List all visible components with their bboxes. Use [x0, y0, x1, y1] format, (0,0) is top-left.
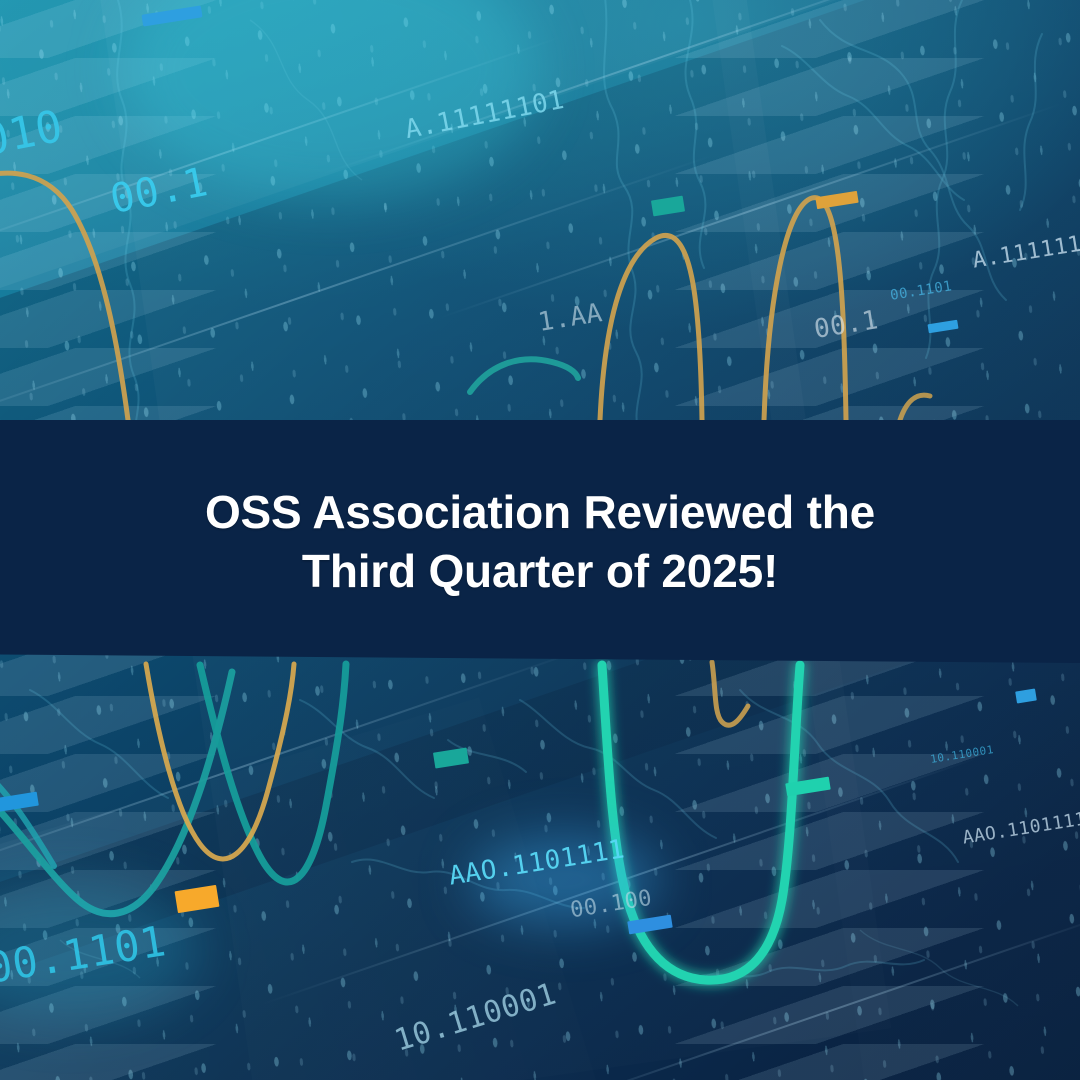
binary-label: 00.1101 — [0, 916, 169, 993]
chip-teal-upper — [651, 196, 685, 217]
chip-cyan-top — [141, 5, 202, 26]
binary-label: AAO.1101111 — [447, 834, 627, 891]
binary-label: 00.1101 — [889, 278, 953, 304]
rule-line — [260, 756, 979, 1005]
cyan-curve-left — [0, 760, 54, 866]
rule-line — [0, 36, 561, 266]
binary-label: 00.1 — [107, 159, 212, 223]
rule-line — [438, 103, 1063, 320]
title-banner: OSS Association Reviewed the Third Quart… — [0, 420, 1080, 663]
binary-label: 1.AA — [536, 298, 605, 338]
gold-curve-mid — [600, 235, 702, 420]
binary-label: 00.1 — [812, 305, 881, 345]
panel-bottom-left — [0, 698, 602, 1080]
chip-teal-lower — [433, 747, 469, 768]
rule-line — [0, 646, 590, 895]
binary-label: A.11111101 — [971, 227, 1080, 273]
teal-curve-far-left — [0, 672, 232, 914]
gold-curve-right — [764, 198, 846, 420]
chip-amber-upper — [815, 191, 858, 209]
binary-label: 010 — [0, 101, 67, 167]
binary-label: A.11111101 — [403, 85, 567, 145]
chip-cyan-edge — [1015, 689, 1037, 704]
gold-curve-edge — [900, 395, 930, 420]
glow-top-left — [120, 0, 540, 200]
chip-cyan-left — [0, 792, 39, 813]
binary-label: 00.100 — [569, 886, 654, 924]
title-line-2: Third Quarter of 2025! — [302, 542, 778, 601]
glow-label — [470, 835, 660, 925]
rule-line — [319, 0, 982, 176]
gold-curve-lower — [146, 664, 294, 859]
teal-curve-arc — [470, 359, 578, 392]
rule-line — [0, 154, 716, 449]
binary-label: 10.110001 — [929, 743, 994, 766]
chip-orange-lower — [175, 885, 220, 913]
chip-blue-marker — [627, 915, 672, 935]
title-line-1: OSS Association Reviewed the — [205, 483, 875, 542]
teal-curve-lower — [200, 664, 346, 882]
gold-curve-left — [0, 173, 128, 420]
chip-teal-marker — [785, 777, 830, 797]
rule-line — [537, 909, 1080, 1080]
chip-cyan-right — [927, 320, 958, 334]
gold-curve-squiggle — [712, 662, 748, 725]
glow-bottom-left — [0, 880, 200, 1020]
bright-teal-u — [602, 665, 800, 980]
banner-stage: 01000.1A.111111011.AA00.1A.1111110100.11… — [0, 0, 1080, 1080]
binary-label: 10.110001 — [391, 976, 561, 1058]
panel-top — [0, 0, 1080, 326]
binary-label: AAO.1101111 — [961, 808, 1080, 848]
